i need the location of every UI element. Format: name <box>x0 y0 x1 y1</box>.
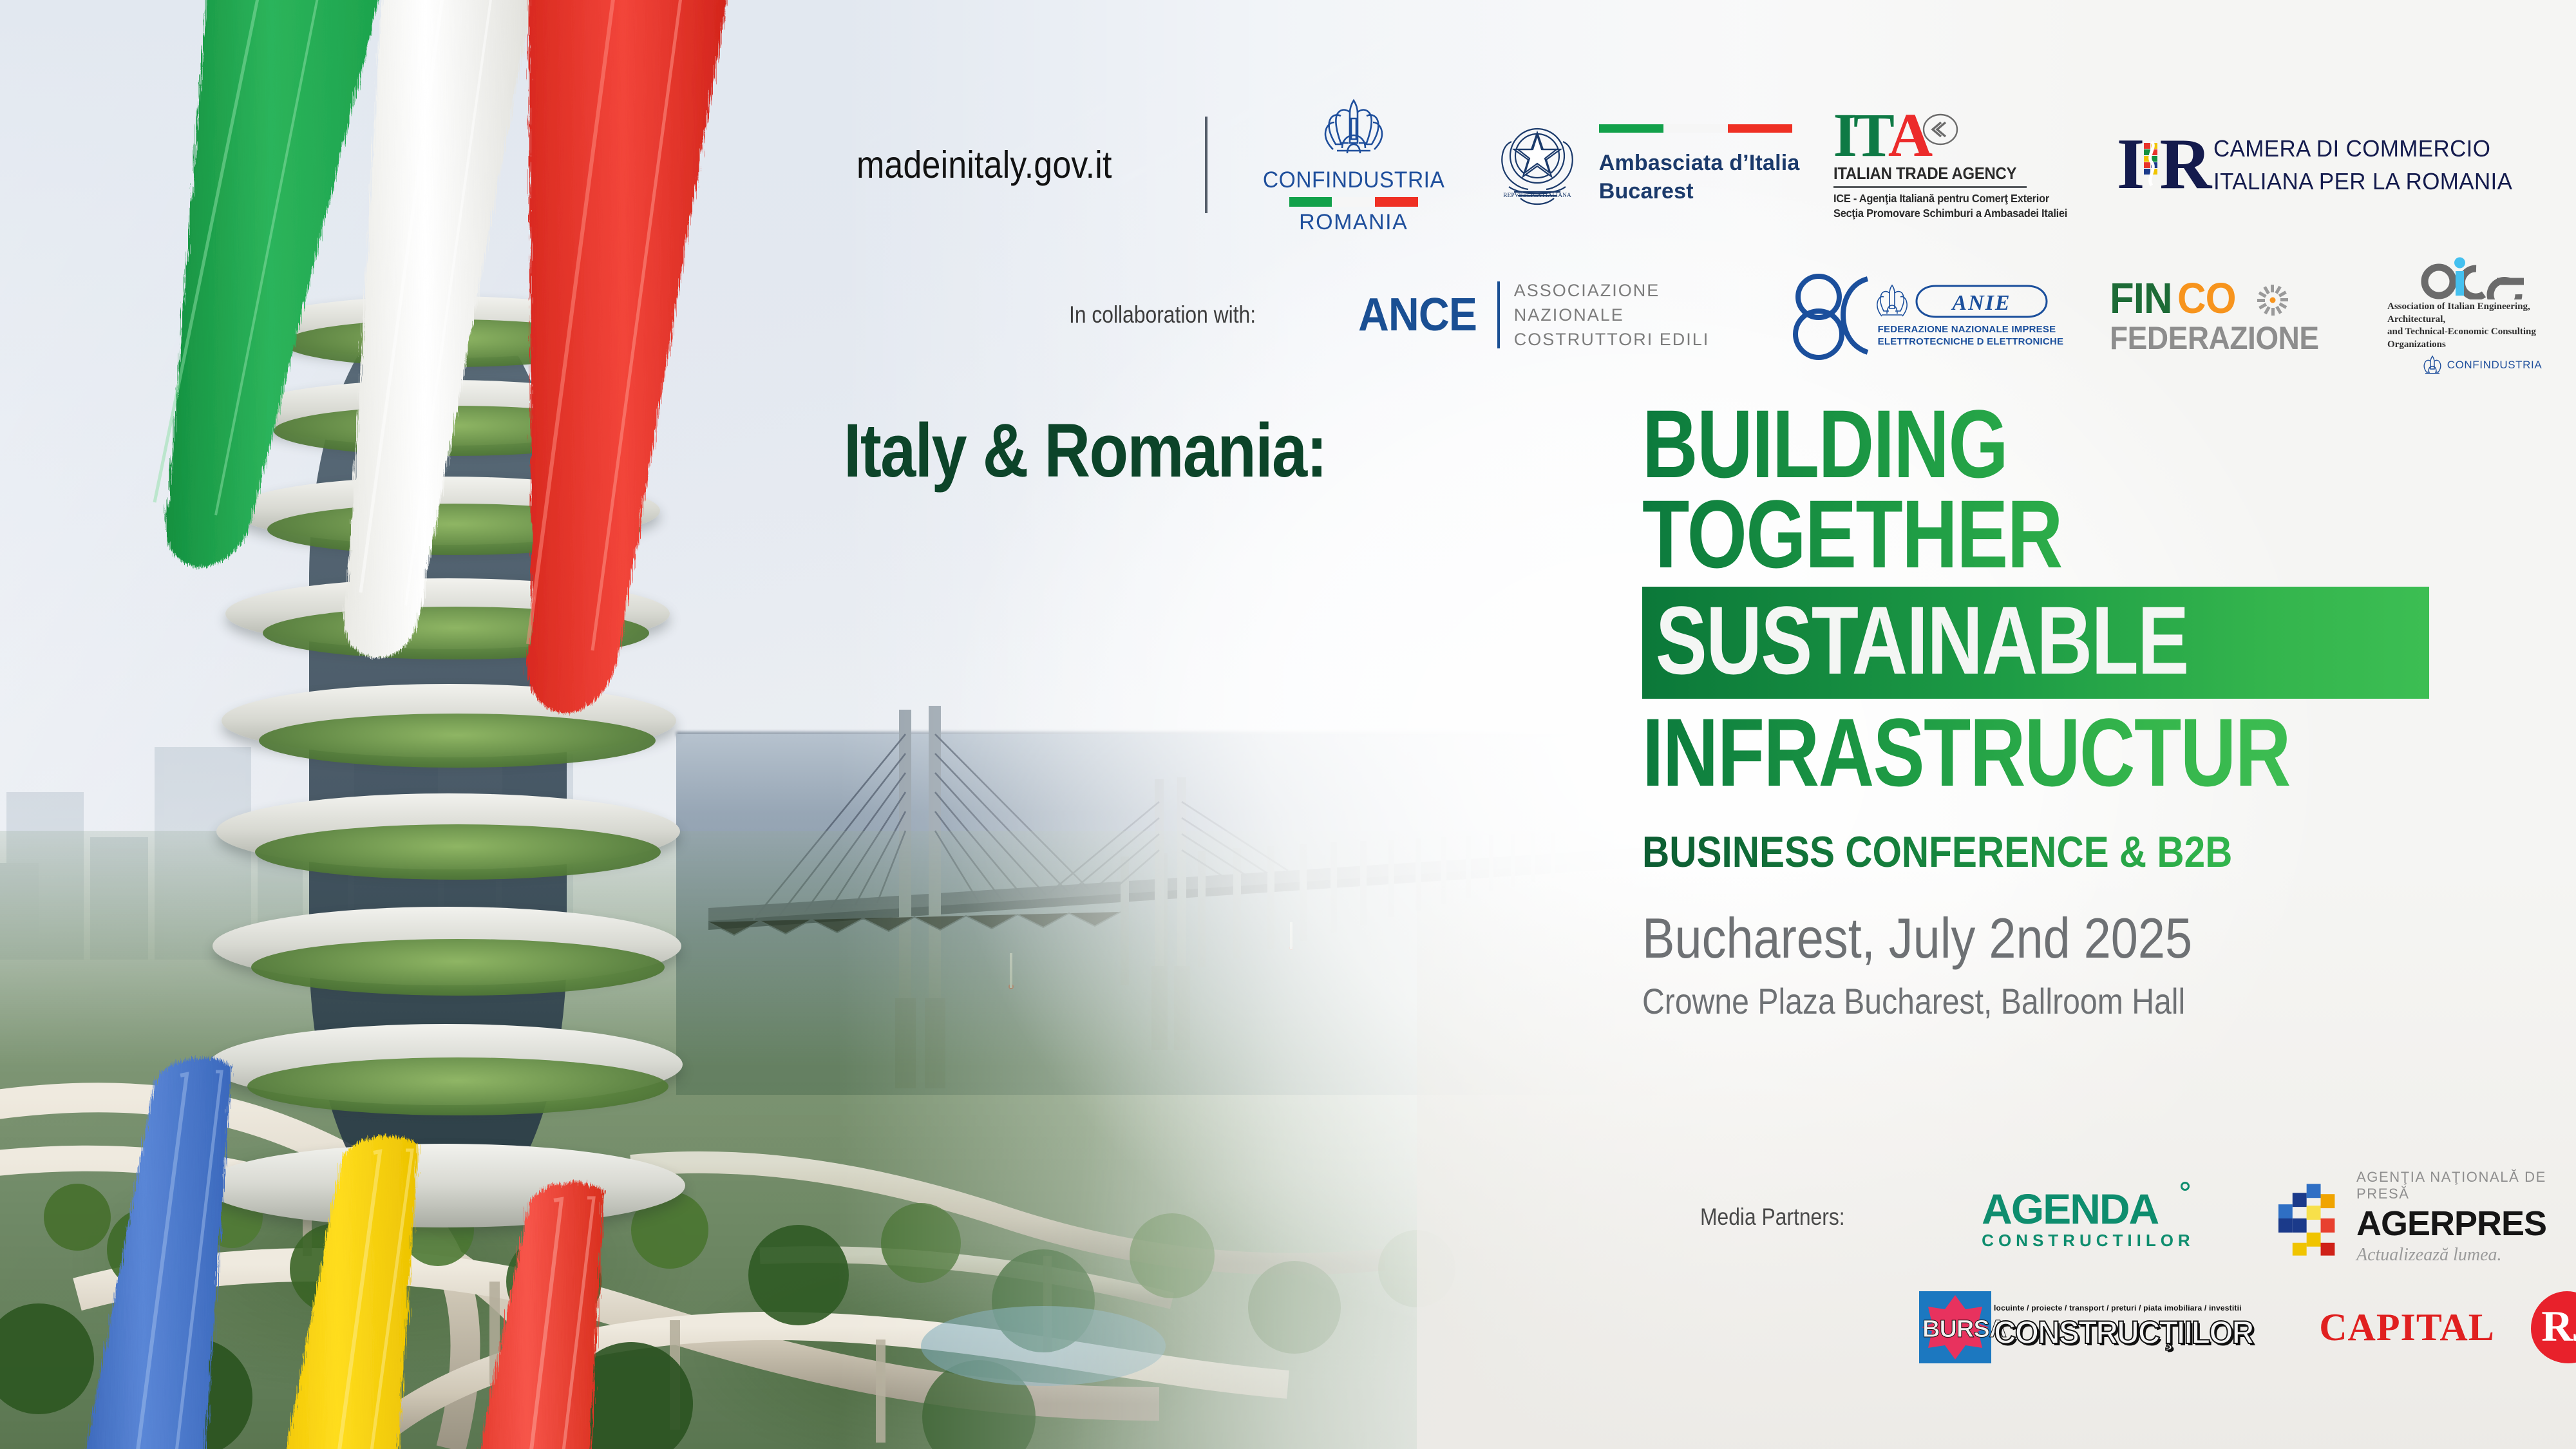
ccir-mono-i: I <box>2117 137 2143 193</box>
ance-sub2: COSTRUTTORI EDILI <box>1514 327 1735 352</box>
event-banner: madeinitaly.gov.it <box>0 0 2576 1449</box>
logo-ambasciata-italia[interactable]: REPVBBLICA ITALIANA Ambasciata d’Italia … <box>1492 116 1800 214</box>
headline-line-2: TOGETHER <box>1642 489 2291 580</box>
ita-sub2: Secţia Promovare Schimburi a Ambasadei I… <box>1833 206 2067 221</box>
agenda-sub: CONSTRUCTIILOR <box>1982 1231 2195 1251</box>
anie-80th-anniversary-icon <box>1789 270 1879 360</box>
logo-confindustria-romania[interactable]: CONFINDUSTRIA ROMANIA <box>1254 97 1454 233</box>
ccir-line1: CAMERA DI COMMERCIO <box>2213 132 2512 165</box>
logo-oice[interactable]: Association of Italian Engineering, Arch… <box>2387 254 2576 375</box>
headline-stack: BUILDING TOGETHER SUSTAINABLE INFRASTRUC… <box>1642 399 2454 1022</box>
ambasciata-line2: Bucarest <box>1599 178 1800 206</box>
headline-line-3: SUSTAINABLE <box>1642 596 2272 686</box>
constructiilor-word: CONSTRUCŢIILOR <box>1994 1314 2253 1351</box>
ita-chevron-icon <box>1922 111 1958 147</box>
italian-flag-bar <box>1599 124 1792 133</box>
oice-sub1: Association of Italian Engineering, Arch… <box>2387 301 2576 326</box>
agerpres-word: AGERPRES <box>2356 1204 2576 1244</box>
finco-sub: FEDERAZIONE <box>2110 319 2319 357</box>
agerpres-tagline: Actualizează lumea. <box>2356 1245 2576 1265</box>
agenda-ring-icon <box>2181 1182 2190 1191</box>
logo-camera-di-commercio[interactable]: I R <box>2117 132 2522 198</box>
anie-sub1: FEDERAZIONE NAZIONALE IMPRESE <box>1875 324 2064 336</box>
agenda-word: AGENDA <box>1982 1185 2158 1233</box>
media-partners-label: Media Partners: <box>1700 1204 1845 1231</box>
logo-italian-trade-agency[interactable]: IT A ITALIAN TRADE AGENCY ICE - Agenţia … <box>1833 109 2082 221</box>
agerpres-top: AGENŢIA NAŢIONALĂ DE PRESĂ <box>2356 1169 2576 1202</box>
logo-ance[interactable]: ANCE ASSOCIAZIONE NAZIONALE COSTRUTTORI … <box>1358 278 1734 352</box>
ccir-mono-r: R <box>2159 137 2210 193</box>
confindustria-eagle-small-icon <box>1875 283 1909 320</box>
bursa-top-strip: locuinte / proiecte / transport / pretur… <box>1994 1303 2264 1312</box>
confindustria-eagle-icon <box>1311 97 1396 164</box>
confindustria-name: CONFINDUSTRIA <box>1262 169 1444 191</box>
ita-name: ITALIAN TRADE AGENCY <box>1833 164 2016 184</box>
ita-acronym-green: IT <box>1833 109 1891 162</box>
finco-sun-icon <box>2249 274 2297 322</box>
logo-agenda-constructiilor[interactable]: AGENDA CONSTRUCTIILOR <box>1982 1184 2195 1251</box>
headline-line-1: BUILDING <box>1642 399 2291 489</box>
anie-badge-icon: ANIE <box>1914 282 2049 321</box>
bursa-badge-icon: BURSA <box>1919 1291 1991 1363</box>
collaboration-logo-row: In collaboration with: ANCE ASSOCIAZIONE… <box>1069 254 2576 375</box>
oice-parent: CONFINDUSTRIA <box>2447 359 2543 372</box>
republic-of-italy-emblem-icon: REPVBBLICA ITALIANA <box>1492 116 1582 214</box>
logo-capital[interactable]: CAPITAL <box>2319 1305 2495 1350</box>
svg-text:REPVBBLICA ITALIANA: REPVBBLICA ITALIANA <box>1503 193 1571 199</box>
oice-wordmark-icon <box>2414 254 2550 299</box>
logo-anie-80[interactable]: ANIE FEDERAZIONE NAZIONALE IMPRESE ELETT… <box>1789 270 2064 360</box>
logo-agerpres[interactable]: AGENŢIA NAŢIONALĂ DE PRESĂ AGERPRES Actu… <box>2271 1169 2576 1265</box>
media-partners-block: Media Partners: AGENDA CONSTRUCTIILOR <box>1700 1169 2576 1363</box>
agerpres-globe-icon <box>2271 1176 2346 1258</box>
ccir-line2: ITALIANA PER LA ROMANIA <box>2213 165 2512 198</box>
confindustria-eagle-mini-icon <box>2421 355 2443 375</box>
headline-highlight-band: SUSTAINABLE <box>1642 587 2429 699</box>
logo-bursa-constructiilor[interactable]: BURSA locuinte / proiecte / transport / … <box>1919 1291 2264 1363</box>
italian-flag-bar <box>1289 197 1418 207</box>
event-date: Bucharest, July 2nd 2025 <box>1642 905 2340 971</box>
finco-part-orange: CO <box>2177 274 2236 323</box>
collaboration-label: In collaboration with: <box>1069 301 1256 328</box>
headline-line-4: INFRASTRUCTURE <box>1642 708 2291 798</box>
ance-sub1: ASSOCIAZIONE NAZIONALE <box>1514 278 1735 328</box>
ance-acronym: ANCE <box>1358 289 1477 341</box>
logo-divider <box>1205 117 1207 213</box>
logo-revista-jurnalul[interactable]: RJ <box>2531 1291 2576 1363</box>
event-venue: Crowne Plaza Bucharest, Ballroom Hall <box>1642 980 2340 1022</box>
confindustria-country: ROMANIA <box>1299 211 1408 233</box>
oice-sub2: and Technical-Economic Consulting Organi… <box>2387 326 2576 351</box>
madeinitaly-url[interactable]: madeinitaly.gov.it <box>857 143 1112 187</box>
organiser-logo-row: madeinitaly.gov.it <box>857 97 2522 233</box>
headline-subtitle: BUSINESS CONFERENCE & B2B <box>1642 827 2340 877</box>
ambasciata-line1: Ambasciata d’Italia <box>1599 149 1800 178</box>
logo-finco[interactable]: FIN CO <box>2110 274 2337 357</box>
ita-sub1: ICE - Agenţia Italiană pentru Comerţ Ext… <box>1833 191 2049 206</box>
finco-part-green: FIN <box>2110 274 2172 323</box>
anie-sub2: ELETTROTECNICHE D ELETTRONICHE <box>1875 336 2064 348</box>
svg-text:ANIE: ANIE <box>1951 291 2011 315</box>
capital-word: CAPITAL <box>2319 1306 2495 1349</box>
headline-prefix: Italy & Romania: <box>844 407 1327 495</box>
ccir-flags-icon <box>2141 140 2161 189</box>
rj-word: RJ <box>2541 1301 2576 1352</box>
